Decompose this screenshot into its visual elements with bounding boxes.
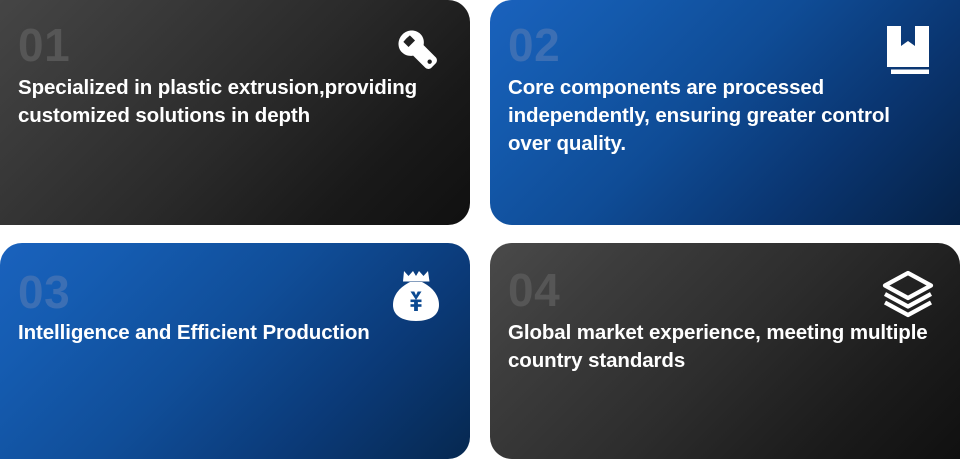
card-text-01: Specialized in plastic extrusion,providi…: [18, 74, 444, 130]
feature-card-grid: 01 Specialized in plastic extrusion,prov…: [0, 0, 960, 459]
card-text-02: Core components are processed independen…: [508, 74, 934, 158]
feature-card-04[interactable]: 04 Global market experience, meeting mul…: [490, 243, 960, 459]
card-text-03: Intelligence and Efficient Production: [18, 319, 444, 347]
card-text-04: Global market experience, meeting multip…: [508, 319, 934, 375]
feature-card-02[interactable]: 02 Core components are processed indepen…: [490, 0, 960, 225]
feature-card-01[interactable]: 01 Specialized in plastic extrusion,prov…: [0, 0, 470, 225]
card-number-04: 04: [508, 267, 934, 313]
feature-card-03[interactable]: 03 Intelligence and Efficient Production: [0, 243, 470, 459]
card-number-02: 02: [508, 22, 934, 68]
card-number-01: 01: [18, 22, 444, 68]
card-number-03: 03: [18, 269, 444, 315]
